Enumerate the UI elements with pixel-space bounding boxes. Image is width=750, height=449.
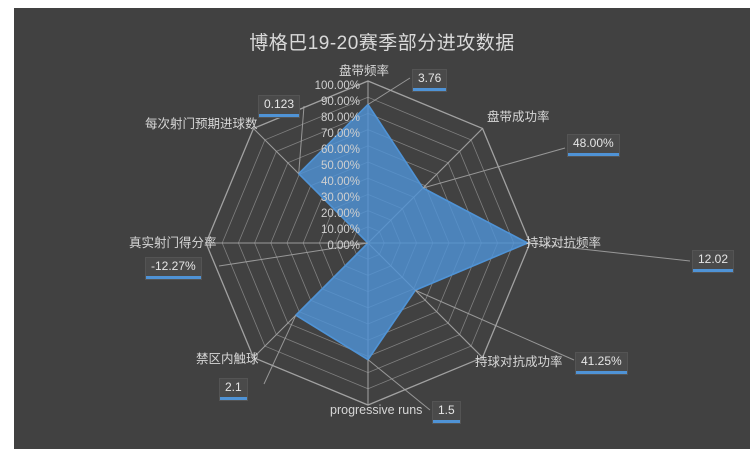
value-label-progressive-runs: 1.5 — [433, 402, 460, 423]
value-label-dribble-frequency: 3.76 — [413, 70, 446, 91]
axis-label-duel-frequency: 持球对抗频率 — [526, 237, 601, 250]
axis-label-touches-in-box: 禁区内触球 — [196, 353, 259, 366]
axis-label-xg-per-shot: 每次射门预期进球数 — [145, 118, 258, 131]
tick-label-60: 60.00% — [272, 145, 360, 157]
chart-plot-area: 博格巴19-20赛季部分进攻数据 100.00% 90.00% 80.00% 7… — [14, 8, 750, 449]
value-label-dribble-success-rate: 48.00% — [568, 135, 619, 156]
tick-label-10: 10.00% — [272, 225, 360, 237]
tick-label-50: 50.00% — [272, 161, 360, 173]
axis-label-dribble-success-rate: 盘带成功率 — [487, 111, 550, 124]
value-label-true-shooting: -12.27% — [146, 258, 201, 279]
value-label-xg-per-shot: 0.123 — [259, 96, 299, 117]
tick-label-40: 40.00% — [272, 177, 360, 189]
radar-chart-root: 博格巴19-20赛季部分进攻数据 100.00% 90.00% 80.00% 7… — [0, 0, 750, 449]
tick-label-30: 30.00% — [272, 193, 360, 205]
tick-label-0: 0.00% — [272, 241, 360, 253]
axis-label-duel-success-rate: 持球对抗成功率 — [475, 356, 563, 369]
tick-label-20: 20.00% — [272, 209, 360, 221]
axis-label-progressive-runs: progressive runs — [330, 404, 422, 417]
tick-label-100: 100.00% — [272, 81, 360, 93]
tick-label-70: 70.00% — [272, 129, 360, 141]
axis-label-true-shooting: 真实射门得分率 — [129, 237, 217, 250]
value-label-touches-in-box: 2.1 — [220, 379, 247, 400]
value-label-duel-success-rate: 41.25% — [576, 353, 627, 374]
axis-label-dribble-frequency: 盘带频率 — [339, 65, 389, 78]
value-label-duel-frequency: 12.02 — [693, 251, 733, 272]
